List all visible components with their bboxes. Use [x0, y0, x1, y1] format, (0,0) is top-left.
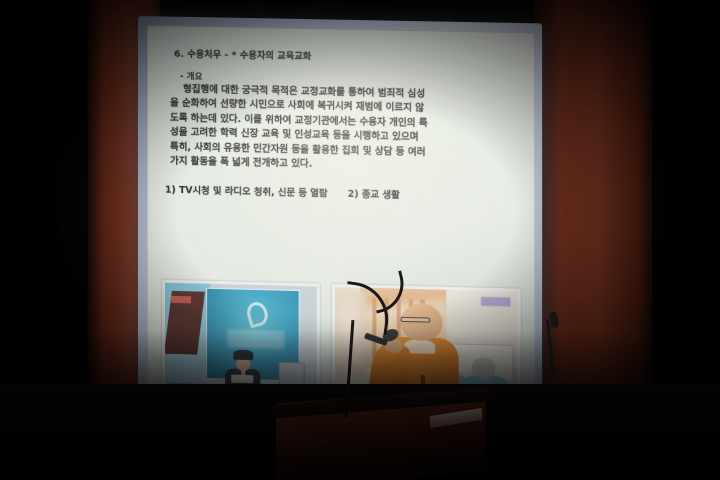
buddhist-monk-speaking-image [335, 287, 518, 418]
tv-studio-scene [165, 283, 317, 412]
anchor-uniform-cap [233, 350, 253, 361]
studio-monitor [279, 362, 305, 387]
foreground-blur [335, 289, 368, 378]
wall-panel-right [534, 0, 652, 480]
auditorium-room: 6. 수용처우 - * 수용자의 교육교화 - 개요 형집행에 대한 궁극적 목… [0, 0, 720, 480]
temple-hall-scene [335, 287, 518, 418]
photo-caption-2: 2) 종교 생활 [348, 189, 400, 201]
glasses-icon [401, 316, 430, 322]
projection-screen: 6. 수용처우 - * 수용자의 교육교화 - 개요 형집행에 대한 궁극적 목… [138, 16, 542, 432]
buddhist-monk-speaking-photo [332, 284, 521, 422]
slide-body-text: 형집행에 대한 궁극적 목적은 교정교화를 통하여 범죄적 심성 을 순화하여 … [170, 83, 521, 177]
anchor-script-papers [232, 375, 253, 383]
tv-broadcast-studio-photo [162, 280, 320, 423]
studio-equipment-left [171, 392, 195, 406]
studio-red-label [171, 295, 191, 303]
monk-robe-button [421, 375, 425, 386]
audience-person-body [459, 373, 510, 412]
audience-person-head [472, 357, 496, 379]
wall-sign [481, 297, 510, 307]
studio-backdrop-text [227, 329, 284, 349]
slide-title: 6. 수용처우 - * 수용자의 교육교화 [174, 46, 521, 67]
tv-broadcast-studio-image [165, 283, 317, 412]
studio-equipment-right [283, 395, 307, 409]
banner-stripe [372, 298, 376, 358]
photo-caption-1: 1) TV시청 및 라디오 청취, 신문 등 열람 [165, 185, 328, 200]
photo-captions-row: 1) TV시청 및 라디오 청취, 신문 등 열람2) 종교 생활 [165, 182, 521, 204]
presentation-slide: 6. 수용처우 - * 수용자의 교육교화 - 개요 형집행에 대한 궁극적 목… [147, 25, 535, 422]
slide-photo-row [162, 280, 521, 423]
broadcaster-logo-icon [244, 300, 270, 328]
